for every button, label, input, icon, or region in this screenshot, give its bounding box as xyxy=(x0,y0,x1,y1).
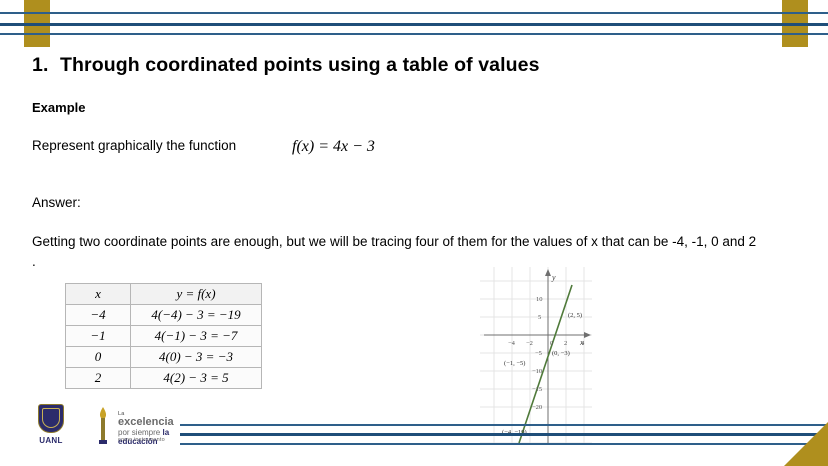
cell-x: 2 xyxy=(66,368,131,389)
corner-gold-triangle xyxy=(784,422,828,466)
svg-text:−2: −2 xyxy=(526,340,533,347)
top-rule-2 xyxy=(0,23,828,26)
shield-icon xyxy=(38,404,64,434)
example-label: Example xyxy=(32,100,85,115)
excellence-line3-pre: por siempre xyxy=(118,428,160,437)
svg-text:−10: −10 xyxy=(532,368,542,375)
excellence-logo: La excelencia por siempre la educación c… xyxy=(88,403,188,447)
table-header-row: x y = f(x) xyxy=(66,284,262,305)
excellence-line4: como instrumento xyxy=(118,437,165,443)
table-row: 2 4(2) − 3 = 5 xyxy=(66,368,262,389)
svg-text:2: 2 xyxy=(564,340,567,347)
heading-number: 1. xyxy=(32,54,60,77)
svg-text:(0, −3): (0, −3) xyxy=(552,350,570,357)
slide-root: 1.Through coordinated points using a tab… xyxy=(0,0,828,466)
top-rule-1 xyxy=(0,12,828,14)
svg-text:(−1, −5): (−1, −5) xyxy=(504,360,525,367)
svg-text:−20: −20 xyxy=(532,404,542,411)
top-rule-3 xyxy=(0,33,828,35)
svg-text:(2, 5): (2, 5) xyxy=(568,312,582,319)
function-formula: f(x) = 4x − 3 xyxy=(292,138,375,156)
bottom-rule-2 xyxy=(180,433,828,436)
cell-x: −1 xyxy=(66,326,131,347)
bottom-rule-3 xyxy=(180,443,828,445)
svg-text:5: 5 xyxy=(538,314,541,321)
table-header-y: y = f(x) xyxy=(131,284,262,305)
cell-y: 4(0) − 3 = −3 xyxy=(131,347,262,368)
represent-text: Represent graphically the function xyxy=(32,138,236,153)
svg-text:−5: −5 xyxy=(535,350,542,357)
heading-text: Through coordinated points using a table… xyxy=(60,54,540,76)
table-row: −4 4(−4) − 3 = −19 xyxy=(66,305,262,326)
table-row: 0 4(0) − 3 = −3 xyxy=(66,347,262,368)
explanation-paragraph: Getting two coordinate points are enough… xyxy=(32,232,758,272)
cell-y: 4(2) − 3 = 5 xyxy=(131,368,262,389)
page-title: 1.Through coordinated points using a tab… xyxy=(32,54,752,77)
cell-y: 4(−4) − 3 = −19 xyxy=(131,305,262,326)
cell-x: −4 xyxy=(66,305,131,326)
svg-text:0: 0 xyxy=(550,340,553,347)
excellence-line2: excelencia xyxy=(118,416,174,428)
answer-label: Answer: xyxy=(32,195,81,210)
bottom-rule-1 xyxy=(180,424,828,426)
cell-x: 0 xyxy=(66,347,131,368)
table-row: −1 4(−1) − 3 = −7 xyxy=(66,326,262,347)
cell-y: 4(−1) − 3 = −7 xyxy=(131,326,262,347)
table-header-x: x xyxy=(66,284,131,305)
svg-text:10: 10 xyxy=(536,296,543,303)
svg-text:−4: −4 xyxy=(508,340,516,347)
table-of-values: x y = f(x) −4 4(−4) − 3 = −19 −1 4(−1) −… xyxy=(65,283,262,389)
uanl-label: UANL xyxy=(30,436,72,445)
torch-icon xyxy=(94,405,112,445)
coordinate-graph: y x 10 5 −5 −10 −15 −20 −4 −2 0 2 4 (2, … xyxy=(480,267,592,445)
svg-text:−15: −15 xyxy=(532,386,542,393)
uanl-logo: UANL xyxy=(30,404,72,450)
svg-text:y: y xyxy=(551,273,556,282)
